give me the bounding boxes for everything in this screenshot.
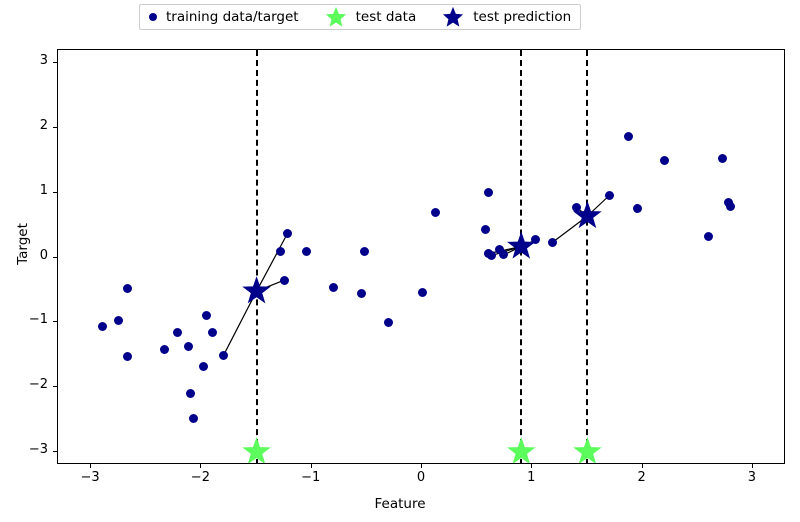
y-axis-label: Target xyxy=(15,199,31,289)
test-prediction-star-marker xyxy=(507,231,536,258)
plot-area xyxy=(57,49,785,464)
y-tick-label: 1 xyxy=(10,183,48,198)
x-tick-mark xyxy=(200,464,201,468)
knn-regression-figure: training data/target test data test pred… xyxy=(0,0,800,522)
test-data-star-marker xyxy=(573,437,602,464)
x-tick-label: 1 xyxy=(511,470,551,485)
test-prediction-star-marker xyxy=(242,276,271,303)
y-tick-mark xyxy=(53,386,57,387)
x-tick-mark xyxy=(752,464,753,468)
x-tick-mark xyxy=(642,464,643,468)
legend-label-test-data: test data xyxy=(356,9,417,25)
y-tick-label: −1 xyxy=(10,312,48,327)
test-data-star-marker xyxy=(507,437,536,464)
y-tick-label: −3 xyxy=(10,442,48,457)
y-tick-label: 2 xyxy=(10,118,48,133)
y-tick-label: 3 xyxy=(10,53,48,68)
x-tick-label: −3 xyxy=(70,470,110,485)
star-marker-layer xyxy=(58,50,785,464)
x-tick-mark xyxy=(90,464,91,468)
star-marker-icon xyxy=(325,6,347,28)
legend-label-training-data: training data/target xyxy=(166,9,299,25)
legend-entry-test-data: test data xyxy=(325,6,417,28)
x-tick-mark xyxy=(421,464,422,468)
test-data-star-marker xyxy=(242,437,271,464)
legend-label-test-prediction: test prediction xyxy=(473,9,571,25)
x-tick-label: 0 xyxy=(401,470,441,485)
x-tick-label: 3 xyxy=(732,470,772,485)
x-tick-label: −1 xyxy=(291,470,331,485)
y-tick-mark xyxy=(53,62,57,63)
y-tick-mark xyxy=(53,257,57,258)
legend-entry-training-data: training data/target xyxy=(149,9,299,25)
test-prediction-star-marker xyxy=(573,201,602,228)
x-tick-mark xyxy=(311,464,312,468)
legend-entry-test-prediction: test prediction xyxy=(442,6,571,28)
y-tick-mark xyxy=(53,192,57,193)
y-tick-mark xyxy=(53,127,57,128)
x-tick-mark xyxy=(531,464,532,468)
y-tick-mark xyxy=(53,451,57,452)
x-axis-label: Feature xyxy=(0,496,800,512)
legend: training data/target test data test pred… xyxy=(139,4,581,30)
y-tick-label: −2 xyxy=(10,377,48,392)
x-tick-label: −2 xyxy=(180,470,220,485)
x-tick-label: 2 xyxy=(622,470,662,485)
circle-marker-icon xyxy=(149,13,157,21)
star-marker-icon xyxy=(442,6,464,28)
y-tick-mark xyxy=(53,321,57,322)
